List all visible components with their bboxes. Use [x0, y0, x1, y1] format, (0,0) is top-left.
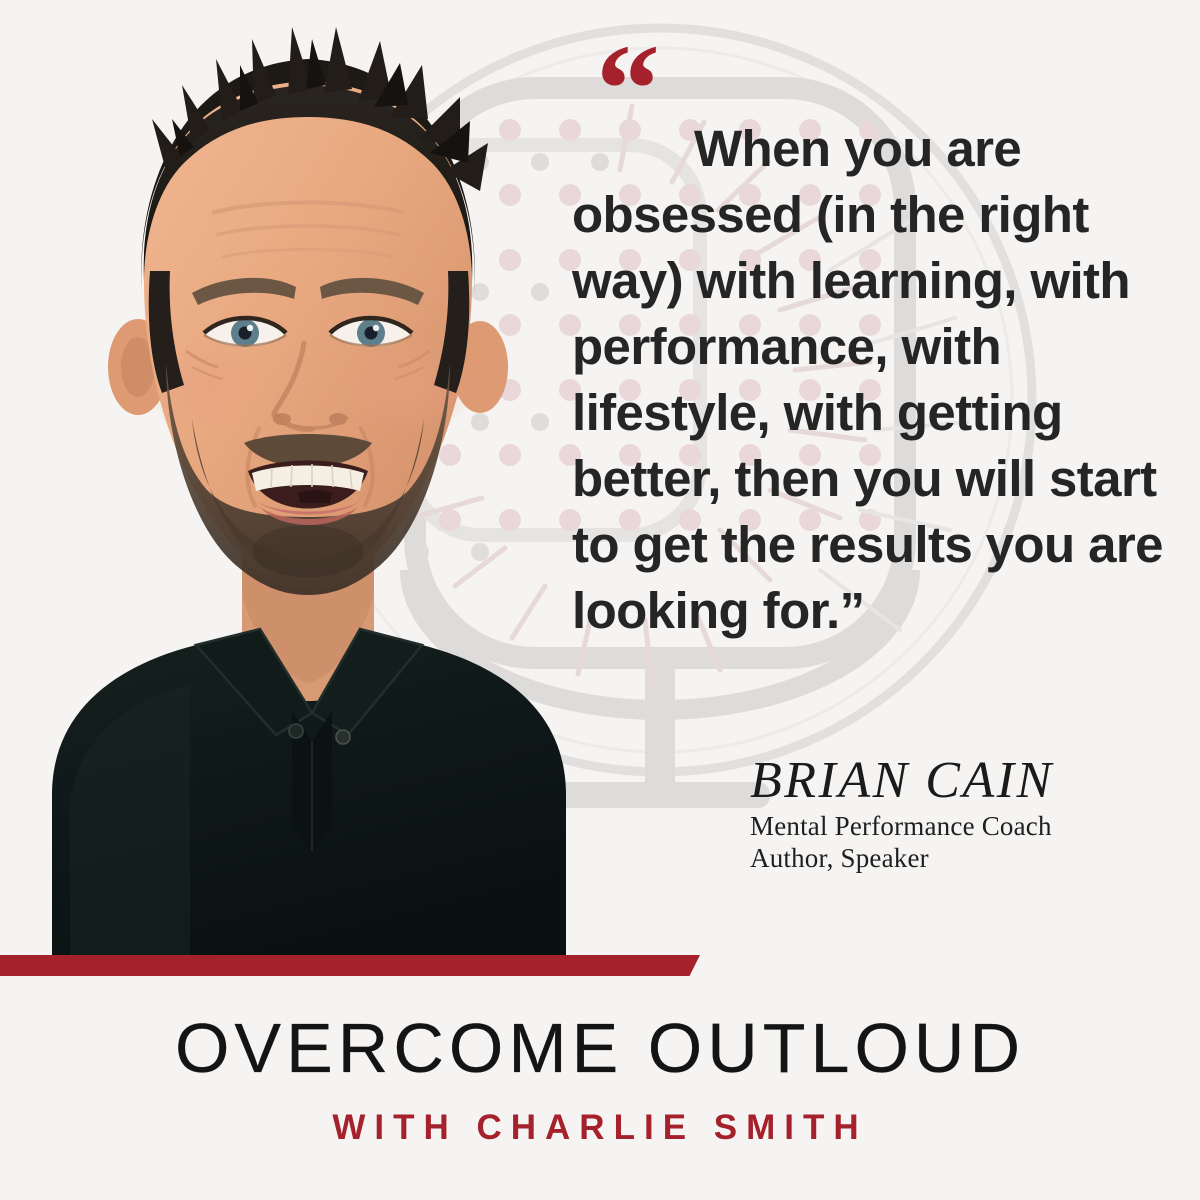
speaker-name: BRIAN CAIN: [750, 752, 1170, 810]
show-host: WITH CHARLIE SMITH: [0, 1108, 1200, 1148]
speaker-portrait: [0, 0, 660, 955]
speaker-role-line-1: Mental Performance Coach: [750, 810, 1170, 842]
open-quote-icon: “: [596, 56, 1184, 118]
show-title: OVERCOME OUTLOUD: [0, 1010, 1200, 1086]
quote-block: “ When you are obsessed (in the right wa…: [572, 56, 1184, 644]
quote-text: When you are obsessed (in the right way)…: [572, 116, 1184, 644]
speaker-role-line-2: Author, Speaker: [750, 842, 1170, 874]
quote-card: “ When you are obsessed (in the right wa…: [0, 0, 1200, 1200]
brand-block: OVERCOME OUTLOUD WITH CHARLIE SMITH: [0, 1010, 1200, 1148]
red-divider-bar: [0, 955, 700, 976]
attribution: BRIAN CAIN Mental Performance Coach Auth…: [750, 752, 1170, 874]
